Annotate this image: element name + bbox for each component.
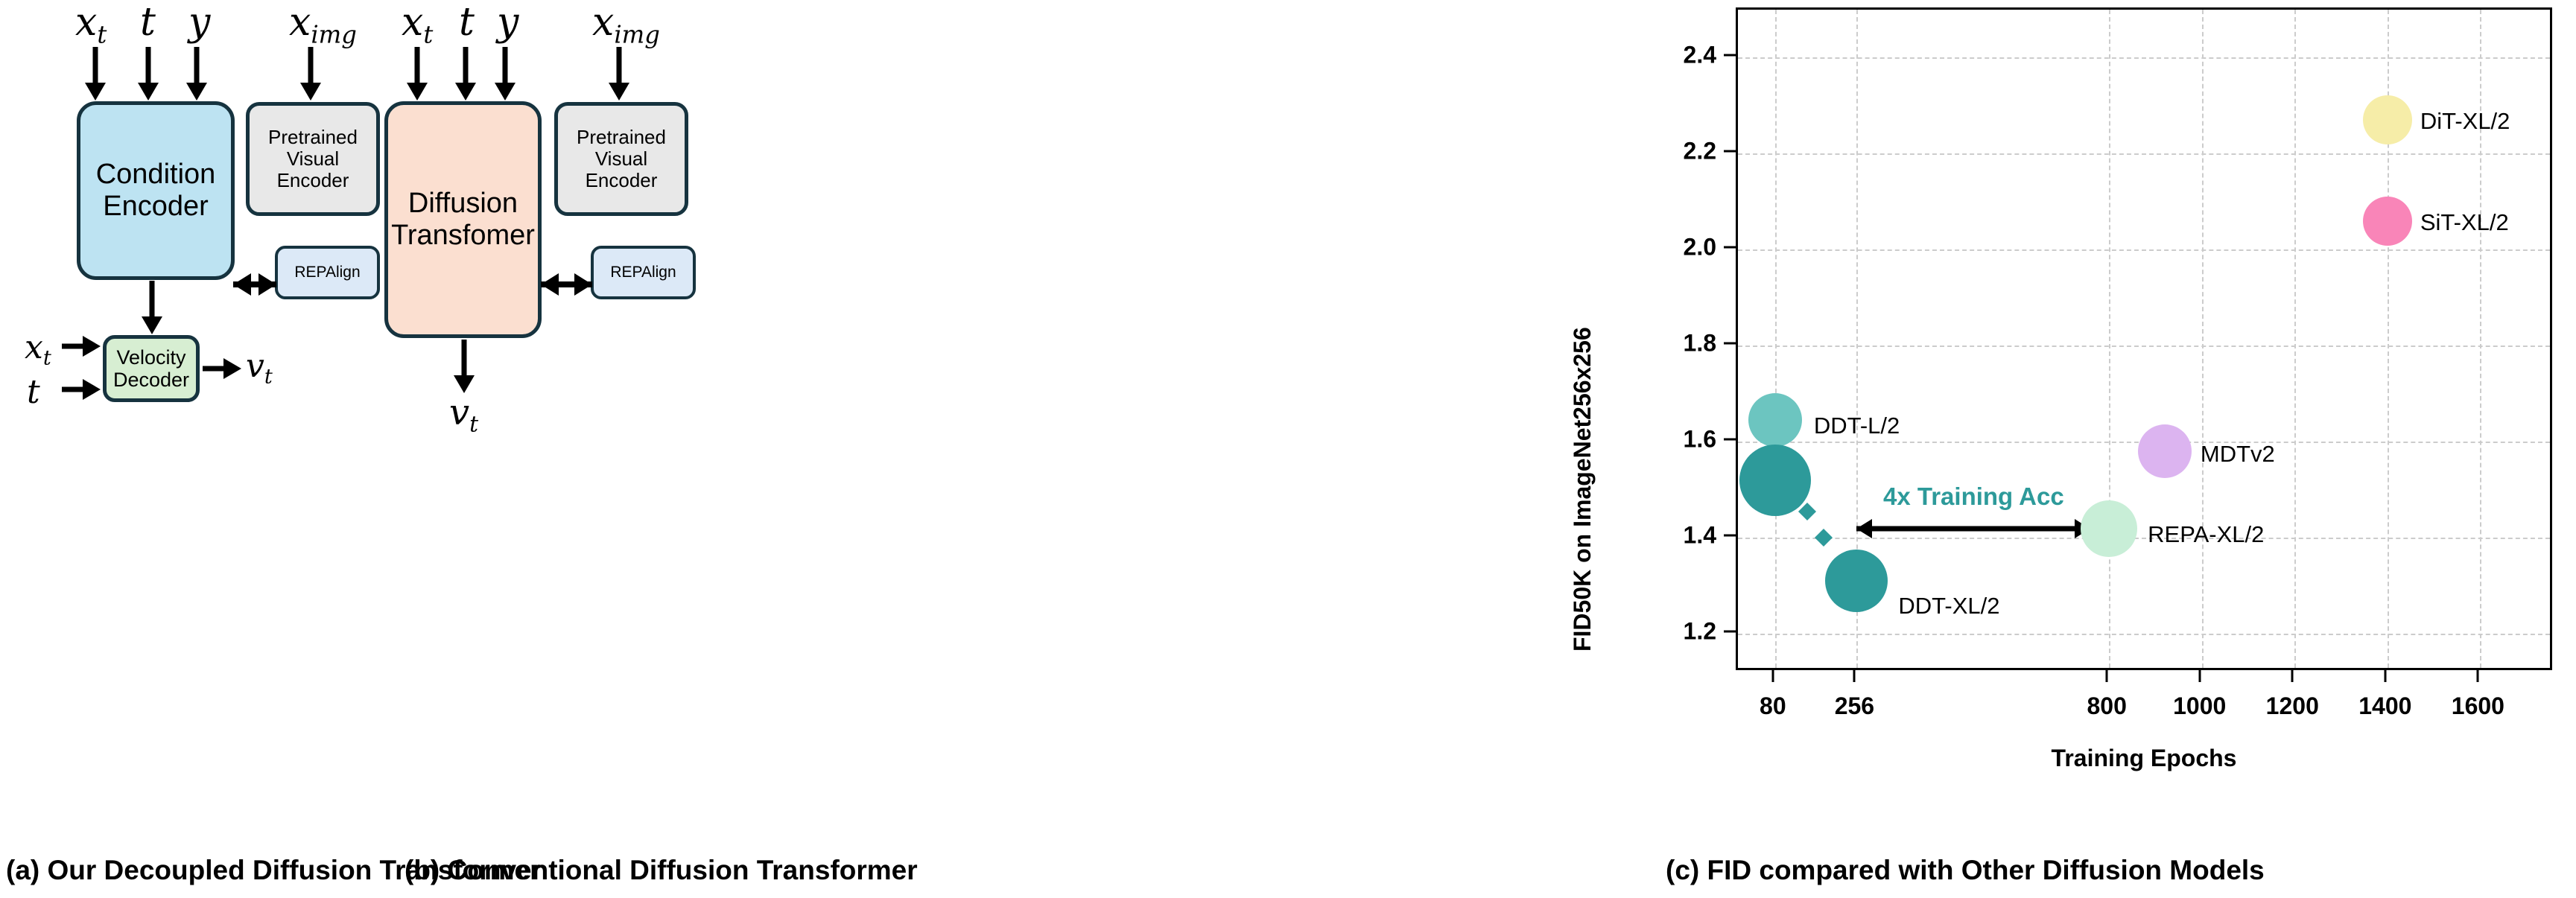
- training-acc-annotation: 4x Training Acc: [1883, 483, 2064, 511]
- repalign-box-b[interactable]: REPAlign: [591, 246, 696, 299]
- arrow-t-to-diffusion-transformer: [454, 47, 477, 101]
- arrow-t-to-velocity-decoder: [62, 378, 101, 401]
- chart-y-axis-label: FID50K on ImageNet256x256: [1569, 327, 1596, 652]
- diffusion-transformer-line2: Transfomer: [391, 220, 535, 252]
- condition-encoder-line2: Encoder: [103, 191, 209, 223]
- gridline-horizontal: [1738, 57, 2550, 59]
- repalign-label-a: REPAlign: [294, 264, 360, 281]
- caption-panel-b: (b) Conventional Diffusion Transformer: [405, 855, 918, 886]
- data-point-bubble[interactable]: [2081, 500, 2137, 557]
- plot-area: 4x Training AccDDT-L/2DDT-XL/2REPA-XL/2M…: [1736, 7, 2552, 670]
- chart-x-axis-label: Training Epochs: [2052, 745, 2237, 772]
- arrow-t-to-condition-encoder: [137, 47, 159, 101]
- data-point-label: REPA-XL/2: [2148, 521, 2264, 548]
- arrow-xt-to-condition-encoder: [84, 47, 107, 101]
- velocity-decoder-line2: Decoder: [113, 369, 189, 391]
- condition-encoder-box[interactable]: Condition Encoder: [77, 101, 235, 280]
- gridline-vertical: [2109, 10, 2110, 668]
- data-point-bubble[interactable]: [1748, 393, 1802, 447]
- symbol-xt-decoder: xt: [25, 331, 51, 369]
- training-acc-arrow: [1856, 517, 2090, 541]
- y-tick-mark: [1724, 631, 1736, 633]
- x-tick-label: 1000: [2173, 692, 2226, 720]
- data-point-label: MDTv2: [2201, 441, 2275, 468]
- data-point-bubble[interactable]: [1739, 445, 1811, 516]
- gridline-vertical: [2294, 10, 2296, 668]
- x-tick-mark: [2291, 670, 2294, 682]
- symbol-vt-b: vt: [449, 395, 478, 436]
- gridline-horizontal: [1738, 249, 2550, 251]
- gridline-horizontal: [1738, 153, 2550, 155]
- arrow-ximg-to-visual-encoder-b: [608, 47, 630, 101]
- diffusion-transformer-box[interactable]: Diffusion Transfomer: [384, 101, 542, 338]
- y-tick-mark: [1724, 150, 1736, 153]
- data-point-label: DDT-L/2: [1814, 413, 1900, 439]
- diffusion-transformer-line1: Diffusion: [408, 188, 518, 220]
- symbol-vt-a: vt: [246, 350, 273, 387]
- symbol-t-a: t: [140, 3, 156, 42]
- y-tick-label: 2.4: [1684, 42, 1716, 69]
- repalign-label-b: REPAlign: [610, 264, 676, 281]
- x-tick-mark: [2477, 670, 2479, 682]
- arrow-xt-to-diffusion-transformer: [406, 47, 428, 101]
- symbol-xt-b: xt: [402, 3, 433, 47]
- condition-encoder-line1: Condition: [96, 159, 216, 191]
- pve-line3-b: Encoder: [586, 170, 658, 191]
- velocity-decoder-line1: Velocity: [116, 346, 185, 369]
- symbol-t-decoder: t: [27, 376, 40, 409]
- x-tick-mark: [2198, 670, 2201, 682]
- y-tick-mark: [1724, 535, 1736, 537]
- repalign-box-a[interactable]: REPAlign: [275, 246, 380, 299]
- symbol-y-a: y: [188, 3, 210, 42]
- y-tick-label: 1.8: [1684, 330, 1716, 357]
- arrow-y-to-condition-encoder: [185, 47, 208, 101]
- y-tick-mark: [1724, 439, 1736, 441]
- y-tick-label: 1.2: [1684, 618, 1716, 646]
- arrow-y-to-diffusion-transformer: [494, 47, 516, 101]
- data-point-bubble[interactable]: [2363, 95, 2412, 144]
- symbol-ximg-a: ximg: [289, 3, 357, 47]
- symbol-y-b: y: [497, 3, 518, 42]
- x-tick-label: 800: [2087, 692, 2126, 720]
- connector-diamond: [1798, 503, 1816, 520]
- gridline-horizontal: [1738, 634, 2550, 635]
- symbol-xt-a: xt: [75, 3, 107, 47]
- x-tick-label: 80: [1760, 692, 1786, 720]
- gridline-vertical: [1775, 10, 1777, 668]
- pretrained-visual-encoder-box-a[interactable]: Pretrained Visual Encoder: [246, 102, 380, 216]
- pve-line1-a: Pretrained: [268, 127, 358, 148]
- symbol-ximg-b: ximg: [592, 3, 660, 47]
- symbol-t-b: t: [459, 3, 475, 42]
- data-point-label: DDT-XL/2: [1898, 593, 1999, 620]
- y-tick-label: 1.6: [1684, 426, 1716, 453]
- velocity-decoder-box[interactable]: Velocity Decoder: [103, 335, 200, 402]
- pretrained-visual-encoder-box-b[interactable]: Pretrained Visual Encoder: [554, 102, 688, 216]
- figure-root: xt t y ximg Condition Encoder Pretrained…: [0, 0, 2576, 898]
- x-tick-mark: [2384, 670, 2386, 682]
- gridline-horizontal: [1738, 345, 2550, 347]
- y-tick-mark: [1724, 54, 1736, 57]
- data-point-bubble[interactable]: [2363, 197, 2412, 246]
- x-tick-mark: [1771, 670, 1774, 682]
- data-point-bubble[interactable]: [2138, 424, 2192, 478]
- data-point-bubble[interactable]: [1825, 550, 1888, 612]
- x-tick-mark: [2106, 670, 2108, 682]
- x-tick-label: 256: [1835, 692, 1874, 720]
- data-point-label: DiT-XL/2: [2420, 108, 2510, 135]
- arrow-diffusion-transformer-repalign: [541, 273, 592, 296]
- gridline-vertical: [2202, 10, 2204, 668]
- arrow-velocity-decoder-to-vt: [203, 357, 241, 380]
- arrow-condition-encoder-to-velocity-decoder: [141, 281, 163, 334]
- x-tick-mark: [1853, 670, 1856, 682]
- y-tick-label: 1.4: [1684, 522, 1716, 550]
- fid-scatter-chart: 4x Training AccDDT-L/2DDT-XL/2REPA-XL/2M…: [1542, 0, 2576, 898]
- y-tick-label: 2.0: [1684, 234, 1716, 261]
- y-tick-mark: [1724, 343, 1736, 345]
- x-tick-label: 1400: [2358, 692, 2411, 720]
- pve-line2-a: Visual: [287, 148, 339, 170]
- arrow-ximg-to-visual-encoder-a: [299, 47, 322, 101]
- arrow-condition-encoder-repalign: [233, 273, 276, 296]
- arrow-diffusion-transformer-to-vt: [453, 340, 475, 393]
- pve-line3-a: Encoder: [277, 170, 349, 191]
- pve-line2-b: Visual: [595, 148, 647, 170]
- y-tick-label: 2.2: [1684, 138, 1716, 165]
- y-tick-mark: [1724, 246, 1736, 249]
- connector-diamond: [1815, 529, 1833, 547]
- x-tick-label: 1600: [2452, 692, 2504, 720]
- arrow-xt-to-velocity-decoder: [62, 335, 101, 357]
- caption-panel-c: (c) FID compared with Other Diffusion Mo…: [1666, 855, 2265, 886]
- pve-line1-b: Pretrained: [577, 127, 666, 148]
- x-tick-label: 1200: [2266, 692, 2319, 720]
- data-point-label: SiT-XL/2: [2420, 209, 2509, 236]
